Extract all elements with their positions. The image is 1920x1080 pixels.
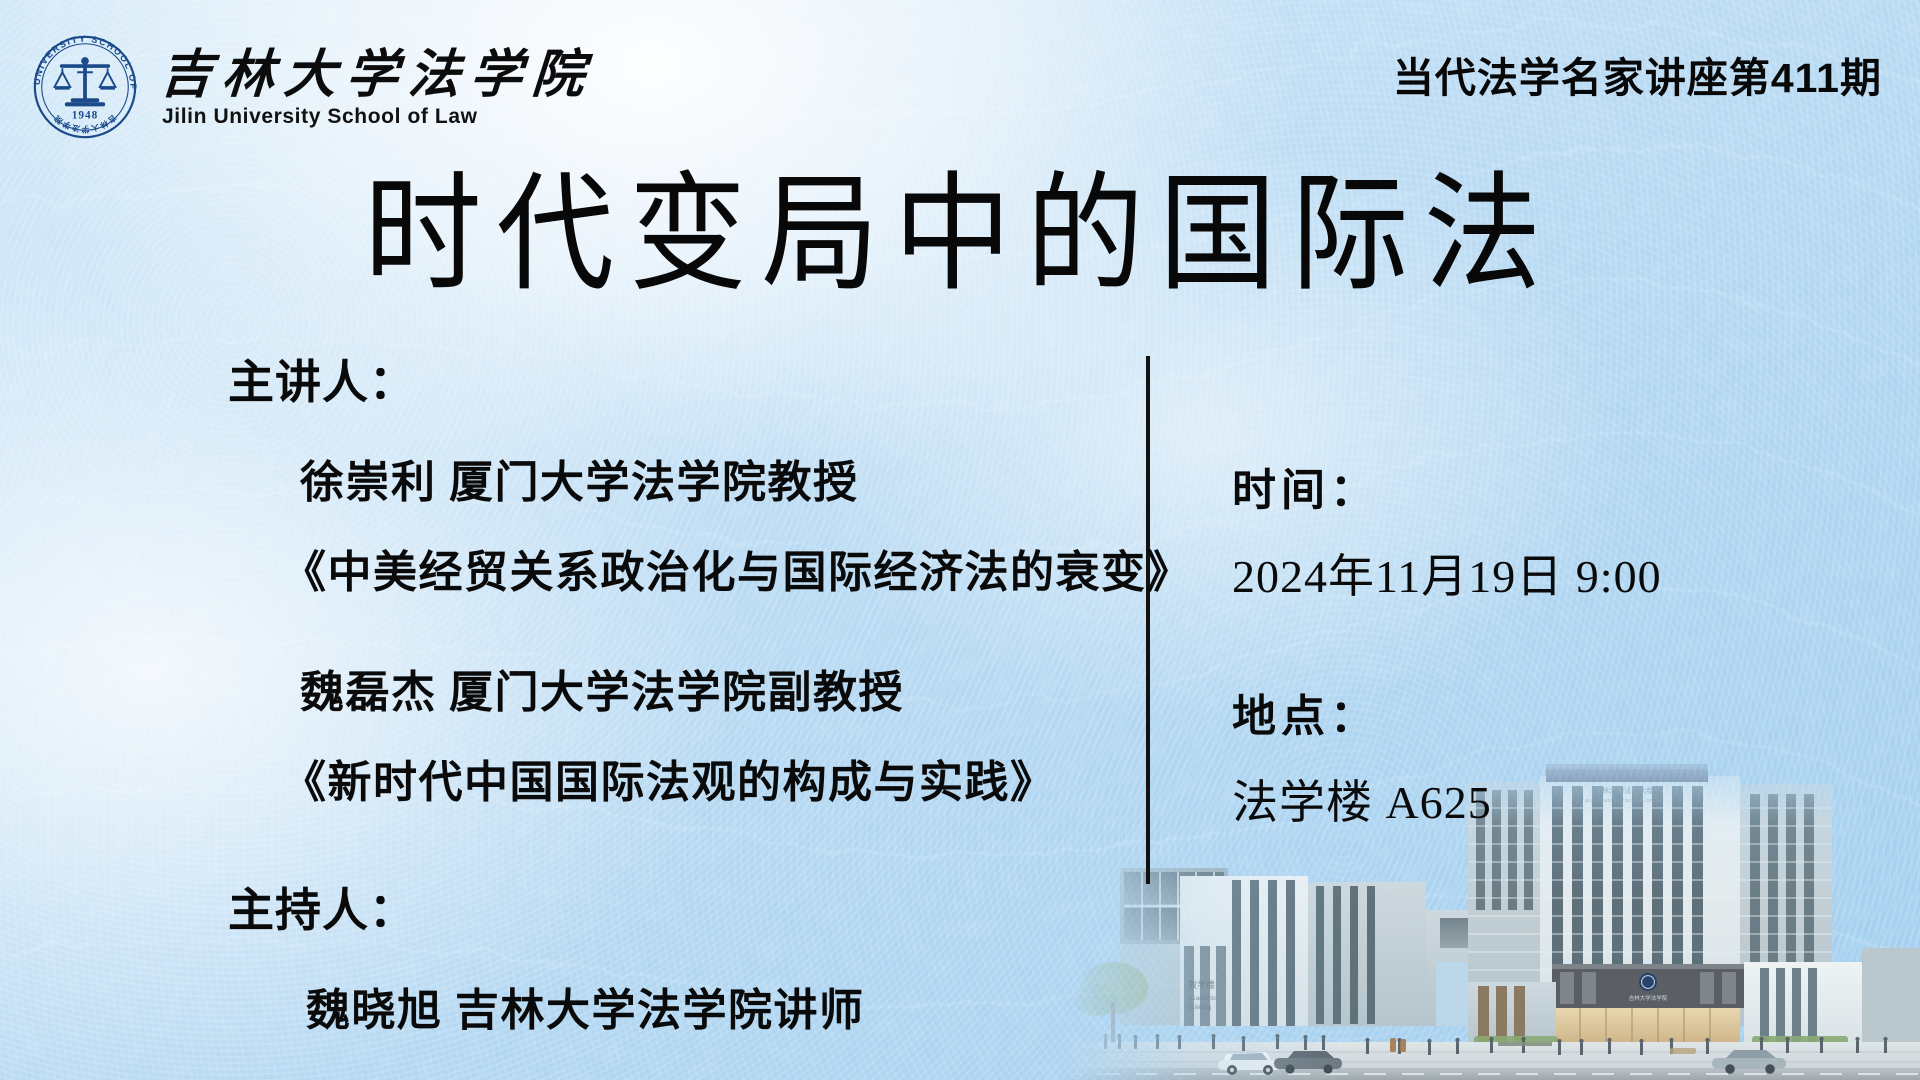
speaker-topic: 《新时代中国国际法观的构成与实践》: [282, 746, 1120, 810]
column-divider: [1146, 356, 1150, 884]
brand-lockup: JILIN UNIVERSITY SCHOOL OF LAW 吉林大学法学院: [26, 28, 594, 146]
place-value: 法学楼 A625: [1232, 766, 1852, 832]
program-column: 主讲人： 徐崇利 厦门大学法学院教授 《中美经贸关系政治化与国际经济法的衰变》 …: [0, 346, 1120, 1038]
svg-text:Academic: Academic: [1188, 995, 1217, 1002]
svg-text:1948: 1948: [72, 109, 99, 121]
speaker-name: 徐崇利 厦门大学法学院教授: [300, 446, 1120, 510]
jilin-law-seal-icon: JILIN UNIVERSITY SCHOOL OF LAW 吉林大学法学院: [26, 28, 144, 146]
svg-text:吉林大学法学院: 吉林大学法学院: [1629, 994, 1668, 1002]
speakers-label: 主讲人：: [0, 346, 1120, 412]
time-value: 2024年11月19日 9:00: [1232, 540, 1852, 606]
host-label: 主持人：: [0, 874, 1120, 940]
speaker-entry: 徐崇利 厦门大学法学院教授 《中美经贸关系政治化与国际经济法的衰变》: [0, 446, 1120, 600]
time-label: 时间：: [1232, 454, 1852, 518]
host-name: 魏晓旭 吉林大学法学院讲师: [306, 974, 1120, 1038]
speaker-entry: 魏磊杰 厦门大学法学院副教授 《新时代中国国际法观的构成与实践》: [0, 656, 1120, 810]
speaker-name: 魏磊杰 厦门大学法学院副教授: [300, 656, 1120, 720]
brand-name-en: Jilin University School of Law: [160, 105, 594, 129]
page-title: 时代变局中的国际法: [77, 160, 1843, 311]
lecture-poster: JILIN UNIVERSITY SCHOOL OF LAW 吉林大学法学院: [0, 0, 1920, 1080]
details-column: 时间： 2024年11月19日 9:00 地点： 法学楼 A625: [1232, 454, 1852, 832]
svg-text:Building: Building: [1188, 1004, 1212, 1011]
brand-name-cn: 吉林大学法学院: [158, 49, 596, 104]
svg-text:教学楼: 教学楼: [1188, 979, 1215, 990]
lecture-series-label: 当代法学名家讲座第411期: [1393, 44, 1882, 104]
host-entry: 魏晓旭 吉林大学法学院讲师: [0, 974, 1120, 1038]
speaker-topic: 《中美经贸关系政治化与国际经济法的衰变》: [282, 536, 1120, 600]
place-label: 地点：: [1232, 680, 1852, 744]
